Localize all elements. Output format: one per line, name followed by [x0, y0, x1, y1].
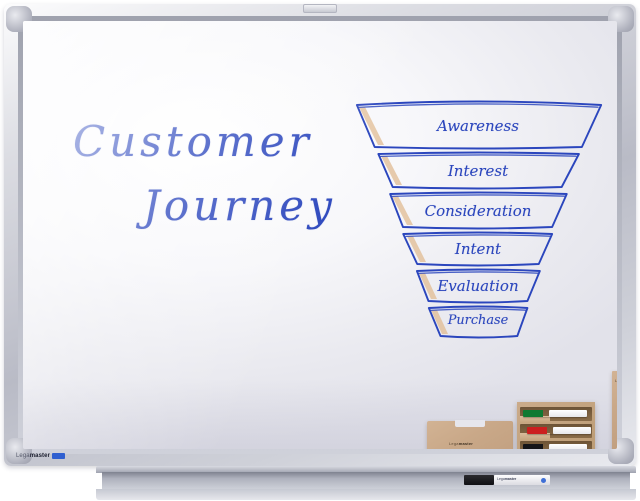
eraser-sleeve-brand: Legamaster [615, 378, 617, 383]
rail-marker-cap [464, 475, 494, 485]
funnel-stage-label-consideration: Consideration [397, 202, 560, 220]
handwritten-title-line-2: Journey [143, 181, 336, 230]
paper-holder-brand: Legamaster [449, 441, 473, 446]
tray-shelf [520, 433, 550, 440]
rail-marker-brand: Legamaster [497, 477, 516, 481]
pen-rail[interactable]: Legamaster [96, 466, 636, 500]
brand-chip-icon [52, 453, 65, 459]
pen-rail-lip [96, 489, 636, 500]
marker-tray[interactable] [517, 402, 595, 449]
funnel-diagram: AwarenessInterestConsiderationIntentEval… [353, 101, 603, 351]
marker-green[interactable] [523, 410, 587, 417]
rail-marker-dot-icon [541, 478, 546, 483]
marker-barrel [549, 410, 587, 417]
paper-holder-notch [455, 420, 485, 427]
wall-mount-clip [303, 4, 337, 13]
marker-black[interactable] [523, 444, 587, 449]
tray-shelf [520, 416, 550, 423]
eraser-sleeve[interactable]: Legamaster [612, 371, 617, 449]
marker-barrel [549, 444, 587, 449]
marker-barrel [553, 427, 591, 434]
whiteboard-surface[interactable]: Customer Journey AwarenessInterestConsid… [23, 21, 617, 449]
funnel-stage-label-awareness: Awareness [366, 117, 591, 135]
whiteboard-scene: Customer Journey AwarenessInterestConsid… [0, 0, 640, 501]
pen-rail-trough [102, 472, 630, 489]
paper-holder[interactable]: Legamaster [427, 421, 513, 449]
funnel-stage-label-interest: Interest [386, 162, 571, 180]
brand-text: Legamaster [16, 453, 50, 459]
legamaster-brand-badge: Legamaster [16, 451, 65, 460]
funnel-stage-label-purchase: Purchase [434, 313, 523, 328]
funnel-stage-label-evaluation: Evaluation [422, 277, 534, 295]
funnel-stage-label-intent: Intent [411, 240, 546, 258]
marker-red[interactable] [527, 427, 591, 434]
marker-cap-green [523, 410, 543, 417]
handwritten-title-line-1: Customer [73, 117, 313, 166]
marker-cap-red [527, 427, 547, 434]
whiteboard-frame: Customer Journey AwarenessInterestConsid… [4, 4, 636, 466]
rail-marker[interactable]: Legamaster [464, 475, 550, 485]
marker-cap-black [523, 444, 543, 449]
